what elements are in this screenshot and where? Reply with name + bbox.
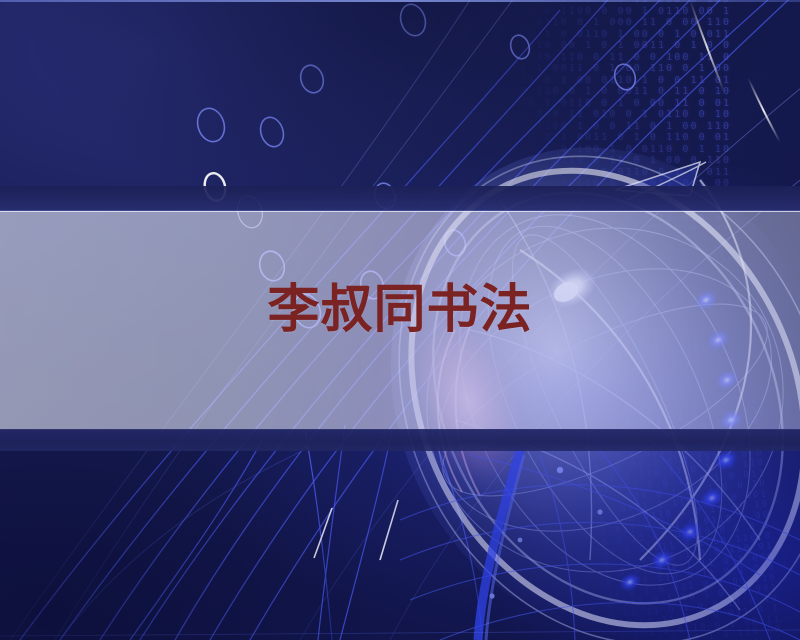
slide-title: 李叔同书法 <box>267 283 532 338</box>
top-edge-highlight <box>0 0 800 2</box>
title-container: 李叔同书法 <box>0 283 800 338</box>
banner-top-stripe <box>0 186 800 211</box>
presentation-slide: 0 1001 00 1 0 11 000 0 10000 0 1100 0 00… <box>0 0 800 640</box>
banner-bottom-stripe <box>0 429 800 451</box>
